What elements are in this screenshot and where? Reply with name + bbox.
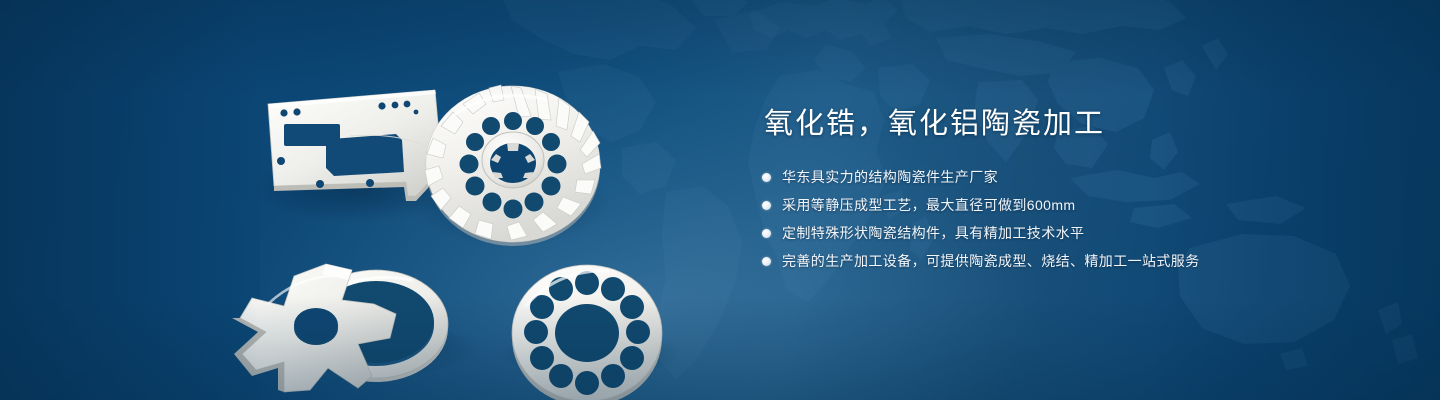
ceramic-processing-banner: 氧化锆，氧化铝陶瓷加工 华东具实力的结构陶瓷件生产厂家 采用等静压成型工艺，最大… — [0, 0, 1440, 400]
ceramic-products-photo — [230, 36, 730, 376]
bullet-dot-icon — [762, 173, 771, 182]
feature-text: 华东具实力的结构陶瓷件生产厂家 — [782, 167, 998, 187]
bullet-dot-icon — [762, 257, 771, 266]
bullet-dot-icon — [762, 229, 771, 238]
banner-headline: 氧化锆，氧化铝陶瓷加工 — [764, 104, 1362, 144]
feature-list: 华东具实力的结构陶瓷件生产厂家 采用等静压成型工艺，最大直径可做到600mm 定… — [762, 166, 1362, 272]
ceramic-plate-part — [268, 90, 442, 201]
feature-text: 采用等静压成型工艺，最大直径可做到600mm — [782, 195, 1075, 215]
ceramic-impeller-part — [425, 85, 601, 246]
feature-text: 定制特殊形状陶瓷结构件，具有精加工技术水平 — [782, 223, 1084, 243]
bullet-dot-icon — [762, 201, 771, 210]
list-item: 定制特殊形状陶瓷结构件，具有精加工技术水平 — [762, 222, 1362, 244]
feature-text: 完善的生产加工设备，可提供陶瓷成型、烧结、精加工一站式服务 — [782, 251, 1200, 271]
list-item: 华东具实力的结构陶瓷件生产厂家 — [762, 166, 1362, 188]
list-item: 采用等静压成型工艺，最大直径可做到600mm — [762, 194, 1362, 216]
banner-copy-block: 氧化锆，氧化铝陶瓷加工 华东具实力的结构陶瓷件生产厂家 采用等静压成型工艺，最大… — [762, 104, 1362, 278]
ceramic-perforated-disc-part — [512, 265, 662, 400]
list-item: 完善的生产加工设备，可提供陶瓷成型、烧结、精加工一站式服务 — [762, 250, 1362, 272]
